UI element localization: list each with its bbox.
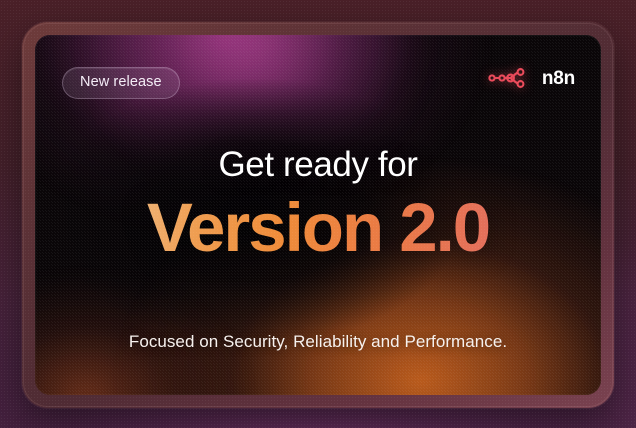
n8n-node-graph-icon [488,67,534,89]
n8n-wordmark: n8n [542,69,575,88]
n8n-logo[interactable]: n8n [488,67,575,89]
headline-kicker: Get ready for [35,147,601,184]
page-background: New release [0,0,636,428]
device-frame: New release [22,22,614,408]
new-release-badge[interactable]: New release [62,67,180,99]
version-title: Version 2.0 [35,191,601,264]
headline-block: Get ready for Version 2.0 [35,147,601,264]
announcement-card: New release [35,35,601,395]
subtitle-text: Focused on Security, Reliability and Per… [35,332,601,352]
card-content: New release [35,35,601,395]
